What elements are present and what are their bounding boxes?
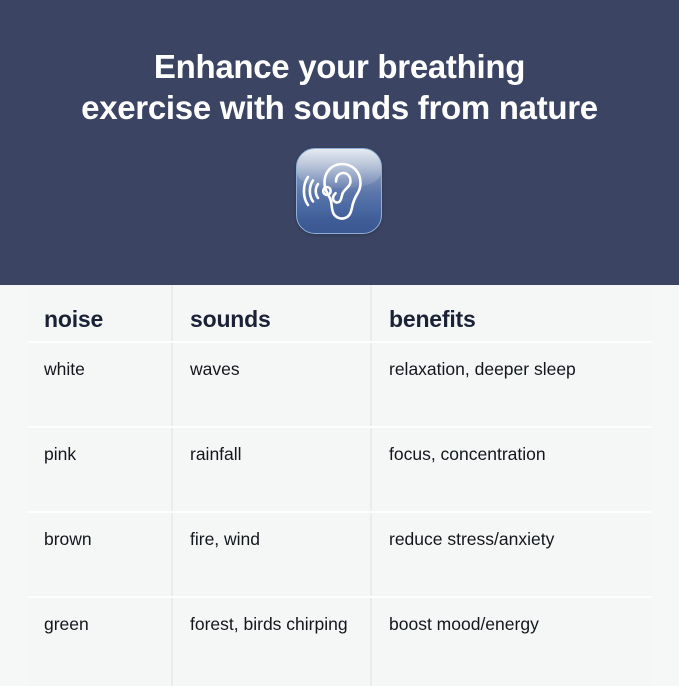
column-header-sounds-label: sounds xyxy=(173,285,370,333)
cell-benefits: boost mood/energy xyxy=(371,597,652,686)
cell-noise: green xyxy=(27,597,172,686)
column-header-noise-label: noise xyxy=(27,285,171,333)
ear-sound-waves-glyph xyxy=(297,149,382,234)
noise-types-table: noise sounds benefits white wave xyxy=(27,285,652,686)
cell-benefits: focus, concentration xyxy=(371,427,652,512)
table-row: brown fire, wind reduce stress/anxiety xyxy=(27,512,652,597)
cell-sounds: rainfall xyxy=(172,427,371,512)
table-header-row: noise sounds benefits xyxy=(27,285,652,342)
table-header: noise sounds benefits xyxy=(27,285,652,342)
cell-noise: white xyxy=(27,342,172,427)
page-title-line-2: exercise with sounds from nature xyxy=(0,87,679,128)
noise-types-table-wrapper: noise sounds benefits white wave xyxy=(0,285,679,679)
cell-noise: pink xyxy=(27,427,172,512)
cell-benefits: reduce stress/anxiety xyxy=(371,512,652,597)
table-row: green forest, birds chirping boost mood/… xyxy=(27,597,652,686)
column-header-benefits-label: benefits xyxy=(372,285,652,333)
column-header-benefits: benefits xyxy=(371,285,652,342)
table-body: white waves relaxation, deeper sleep pin… xyxy=(27,342,652,686)
ear-sound-waves-icon xyxy=(296,148,382,234)
infographic-page: Enhance your breathing exercise with sou… xyxy=(0,0,679,679)
cell-noise: brown xyxy=(27,512,172,597)
cell-benefits: relaxation, deeper sleep xyxy=(371,342,652,427)
table-row: white waves relaxation, deeper sleep xyxy=(27,342,652,427)
cell-sounds: forest, birds chirping xyxy=(172,597,371,686)
column-header-noise: noise xyxy=(27,285,172,342)
page-title: Enhance your breathing exercise with sou… xyxy=(0,46,679,128)
table-row: pink rainfall focus, concentration xyxy=(27,427,652,512)
cell-sounds: waves xyxy=(172,342,371,427)
hero-banner: Enhance your breathing exercise with sou… xyxy=(0,0,679,285)
column-header-sounds: sounds xyxy=(172,285,371,342)
page-title-line-1: Enhance your breathing xyxy=(0,46,679,87)
cell-sounds: fire, wind xyxy=(172,512,371,597)
